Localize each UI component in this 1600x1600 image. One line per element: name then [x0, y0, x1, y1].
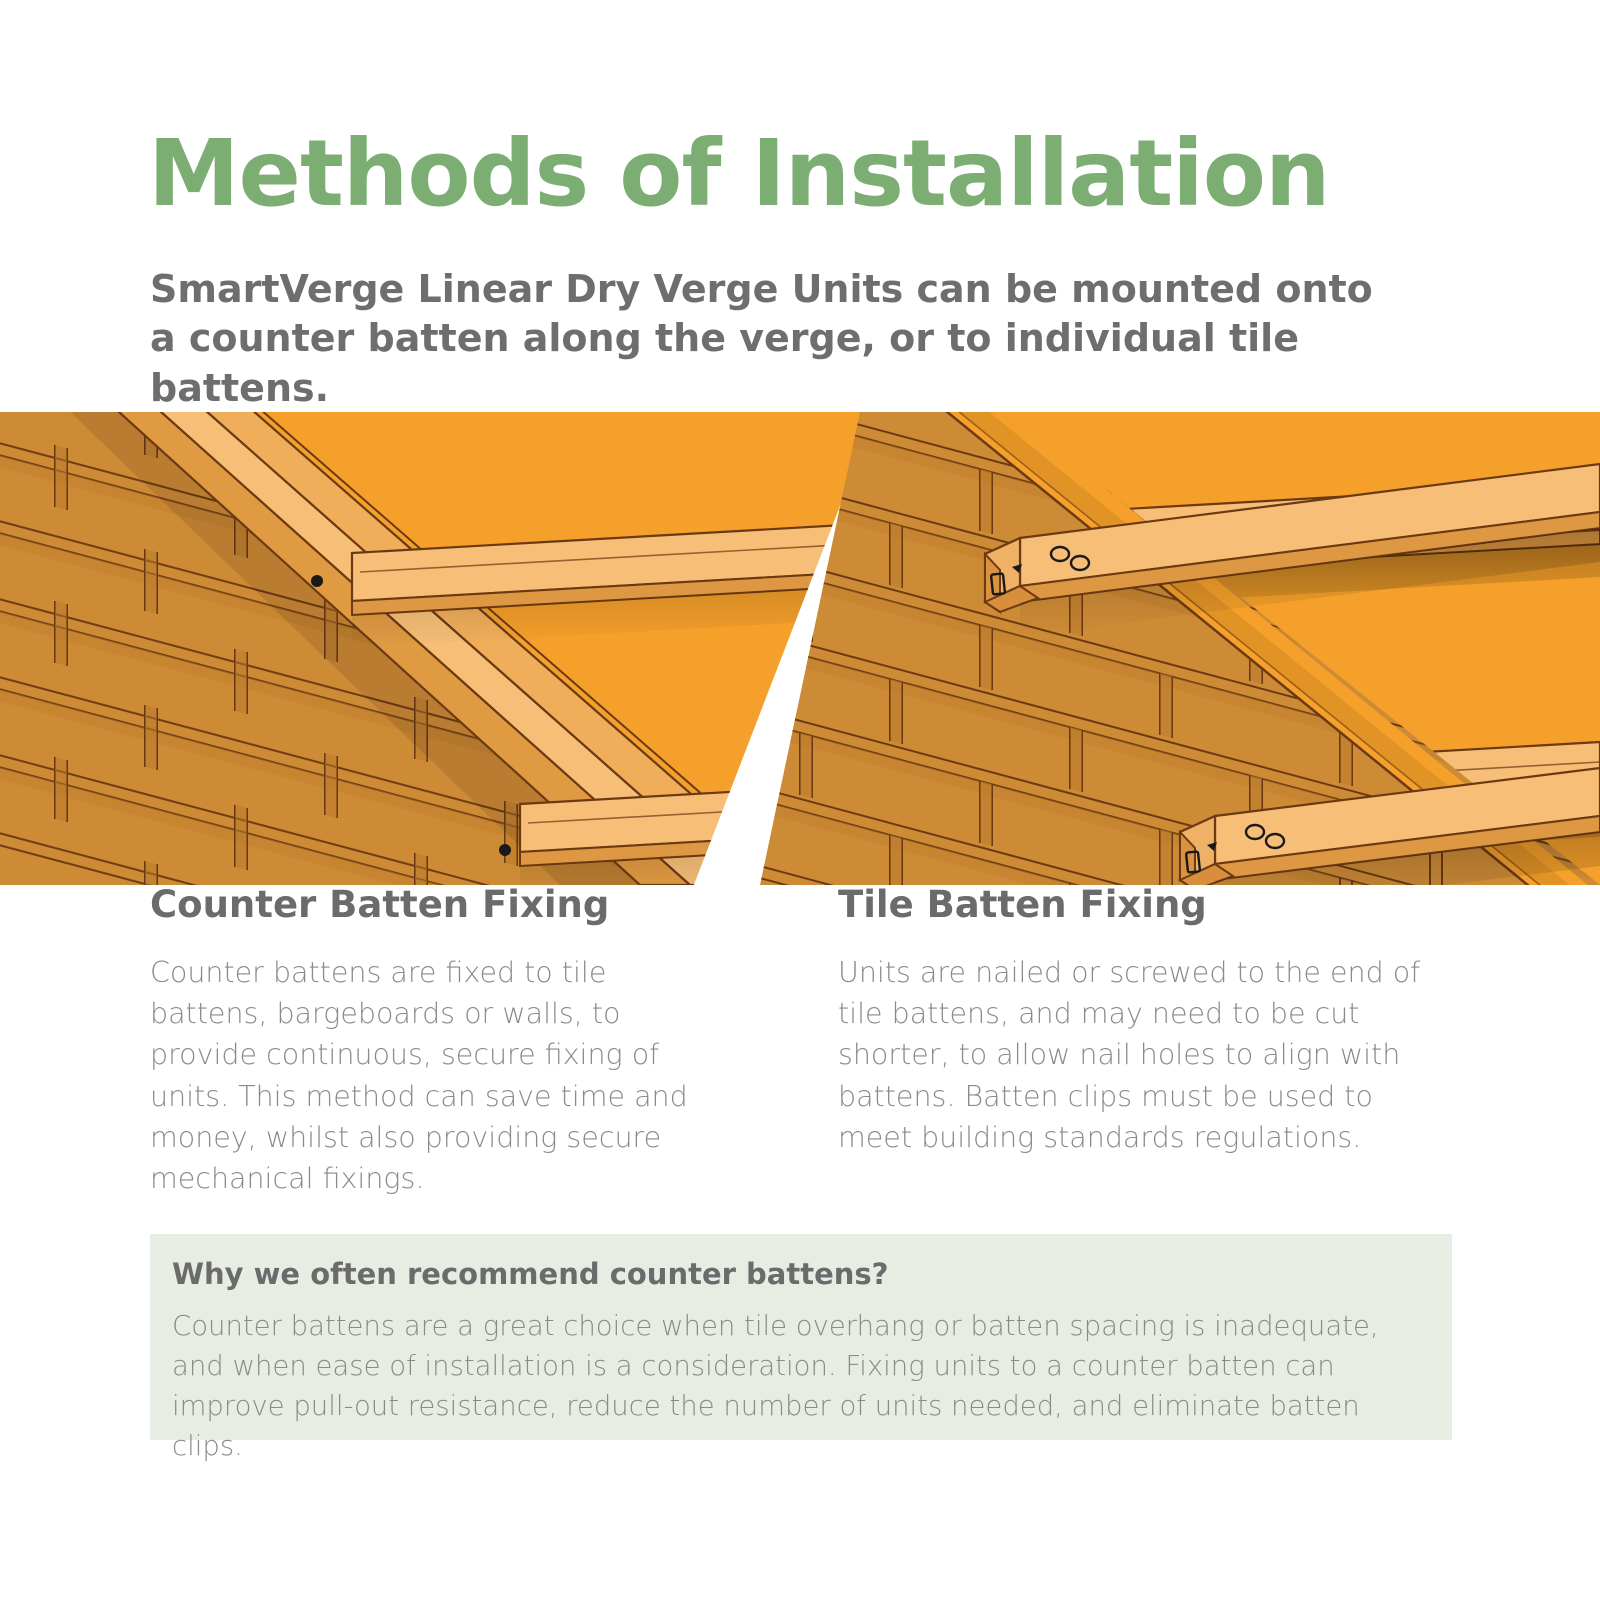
page-title: Methods of Installation	[148, 128, 1329, 220]
page-subtitle: SmartVerge Linear Dry Verge Units can be…	[150, 265, 1410, 413]
callout-title: Why we often recommend counter battens?	[172, 1259, 888, 1291]
column-title: Tile Batten Fixing	[838, 885, 1428, 926]
illustration-band	[0, 412, 1600, 885]
column-tile-batten-fixing: Tile Batten Fixing Units are nailed or s…	[838, 885, 1428, 1158]
columns-section: Counter Batten Fixing Counter battens ar…	[0, 885, 1600, 1185]
column-counter-batten-fixing: Counter Batten Fixing Counter battens ar…	[150, 885, 720, 1200]
column-body: Units are nailed or screwed to the end o…	[838, 952, 1428, 1159]
infographic-page: Methods of Installation SmartVerge Linea…	[0, 0, 1600, 1600]
roof-verge-isometric-illustration	[0, 412, 1600, 885]
callout-body: Counter battens are a great choice when …	[172, 1307, 1430, 1467]
fixing-screw-dot	[499, 844, 511, 856]
header-section: Methods of Installation SmartVerge Linea…	[0, 0, 1600, 412]
fixing-screw-dot	[311, 575, 323, 587]
column-body: Counter battens are fixed to tile batten…	[150, 952, 720, 1200]
column-title: Counter Batten Fixing	[150, 885, 720, 926]
recommendation-callout: Why we often recommend counter battens? …	[150, 1234, 1452, 1440]
